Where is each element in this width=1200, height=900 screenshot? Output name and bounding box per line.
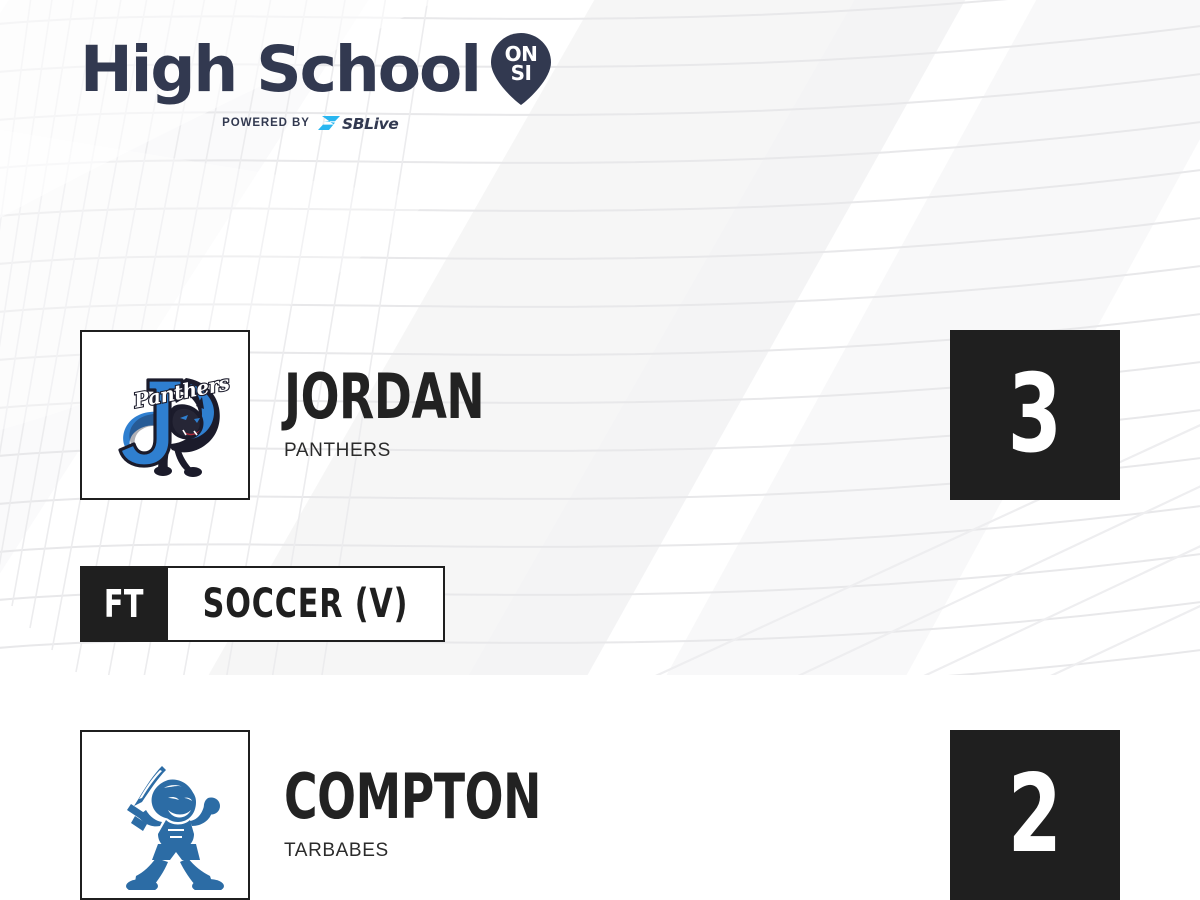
- brand-header: High School ON SI POWERED BY SBLive: [80, 34, 552, 133]
- compton-score-box: 2: [950, 730, 1120, 900]
- powered-by-row: POWERED BY SBLive: [88, 113, 552, 133]
- status-sport-panel: SOCCER (V): [168, 566, 445, 642]
- sblive-wordmark: SBLive: [342, 115, 398, 133]
- score-value: 2: [1008, 761, 1062, 869]
- team-mascot: PANTHERS: [284, 440, 528, 462]
- sblive-logo: SBLive: [318, 113, 418, 133]
- onsi-location-pin-icon: ON SI: [490, 32, 552, 106]
- brand-title-row: High School ON SI: [80, 34, 552, 106]
- powered-by-label: POWERED BY: [222, 117, 310, 129]
- brand-title: High School: [80, 40, 480, 100]
- team-mascot: TARBABES: [284, 840, 597, 862]
- pin-text-si: SI: [511, 61, 532, 85]
- status-period-badge: FT: [80, 566, 168, 642]
- compton-tarbabes-logo: [80, 730, 250, 900]
- score-value: 3: [1008, 361, 1062, 469]
- jordan-score-box: 3: [950, 330, 1120, 500]
- team-name: COMPTON: [284, 768, 541, 826]
- status-period-label: FT: [104, 582, 144, 626]
- team-name: JORDAN: [284, 368, 484, 426]
- jordan-panthers-logo: Panthers: [80, 330, 250, 500]
- compton-team-text: COMPTON TARBABES: [284, 730, 597, 900]
- game-status-bar: FT SOCCER (V): [80, 566, 445, 642]
- jordan-team-text: JORDAN PANTHERS: [284, 330, 528, 500]
- status-sport-label: SOCCER (V): [203, 581, 409, 627]
